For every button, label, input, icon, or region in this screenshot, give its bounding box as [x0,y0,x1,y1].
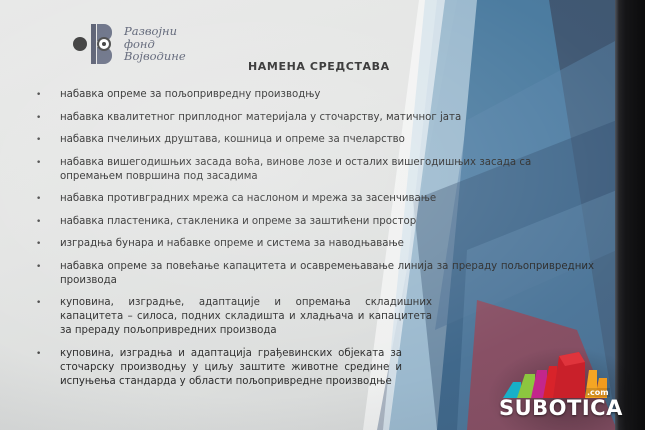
logo-bar-shape [91,24,96,64]
list-item-text: изградња бунара и набавке опреме и систе… [60,237,602,251]
list-item-text: набавка опреме за повећање капацитета и … [60,260,602,288]
list-item: • набавка вишегодишњих засада воћа, вино… [32,156,602,184]
list-item: • набавка опреме за пољопривредну произв… [32,88,602,102]
list-item-text: набавка пластеника, стакленика и опреме … [60,215,602,229]
bullet-marker-icon: • [32,215,60,229]
bullet-marker-icon: • [32,156,60,170]
logo-line-3: Војводине [124,50,186,63]
list-item: • набавка пластеника, стакленика и опрем… [32,215,602,229]
list-item: • куповина, изградње, адаптације и опрем… [32,296,602,338]
subotica-watermark: .com SUBOTICA [497,352,617,424]
list-item-text: набавка пчелињих друштава, кошница и опр… [60,133,602,147]
bullet-marker-icon: • [32,347,60,361]
watermark-wordmark: SUBOTICA [499,396,623,420]
projected-slide-photo: Развојни фонд Војводине НАМЕНА СРЕДСТАВА… [0,0,645,430]
bullet-marker-icon: • [32,296,60,310]
bullet-marker-icon: • [32,260,60,274]
logo-wordmark: Развојни фонд Војводине [124,25,186,64]
fund-logo-mark [73,24,115,64]
list-item-text: набавка опреме за пољопривредну производ… [60,88,602,102]
organization-logo: Развојни фонд Војводине [73,24,186,64]
bullet-marker-icon: • [32,237,60,251]
list-item-text: набавка вишегодишњих засада воћа, винове… [60,156,602,184]
list-item-text: набавка противградних мрежа са наслоном … [60,192,602,206]
list-item: • набавка пчелињих друштава, кошница и о… [32,133,602,147]
logo-line-1: Развојни [124,25,186,38]
logo-dot-shape [73,37,87,51]
list-item: • набавка противградних мрежа са наслоно… [32,192,602,206]
list-item: • изградња бунара и набавке опреме и сис… [32,237,602,251]
bullet-marker-icon: • [32,111,60,125]
bullet-marker-icon: • [32,133,60,147]
list-item: • набавка опреме за повећање капацитета … [32,260,602,288]
bullet-marker-icon: • [32,192,60,206]
bullet-marker-icon: • [32,88,60,102]
list-item-text: набавка квалитетног приплодног материјал… [60,111,602,125]
list-item-text: куповина, изградње, адаптације и опремањ… [60,296,602,338]
logo-ring-shape [97,37,111,51]
slide-title: НАМЕНА СРЕДСТАВА [248,60,390,73]
list-item: • набавка квалитетног приплодног материј… [32,111,602,125]
